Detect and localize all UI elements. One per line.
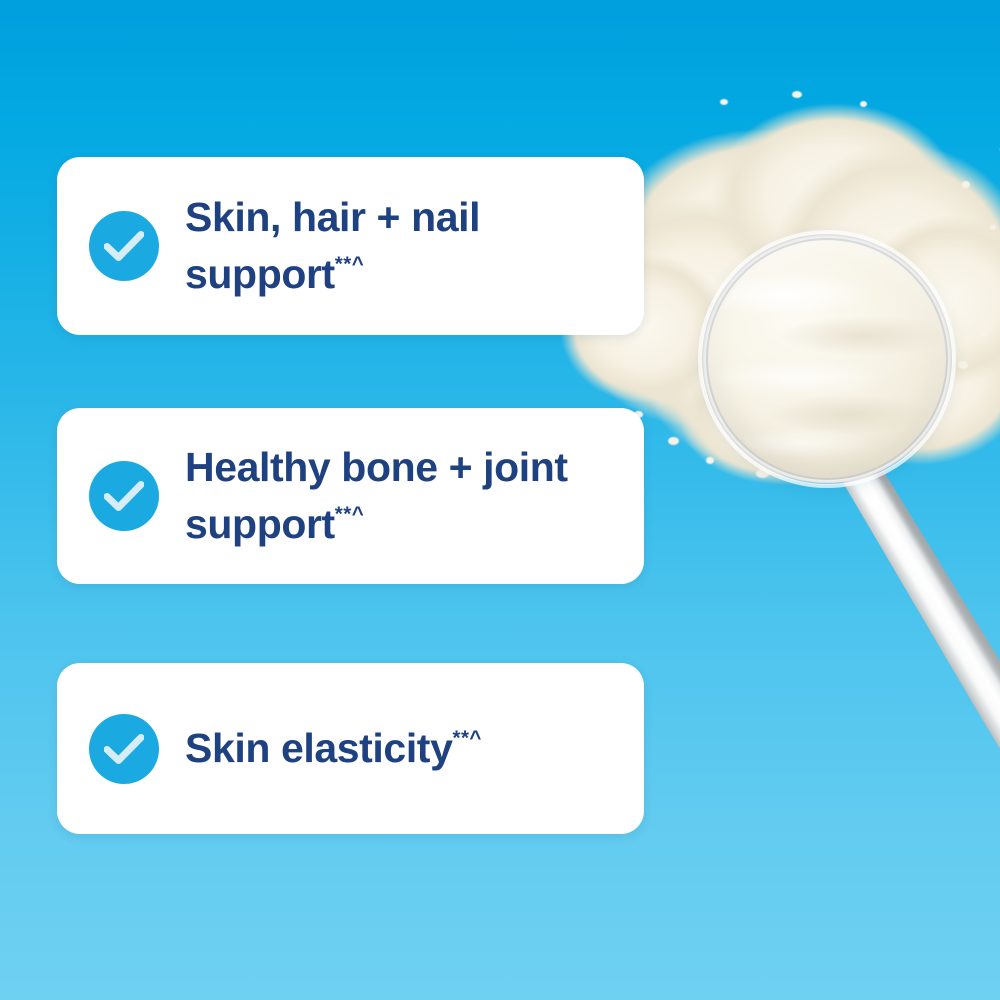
- handle-highlight: [808, 402, 1000, 976]
- benefit-text: Skin, hair + nail support: [185, 194, 480, 297]
- product-benefits-graphic: Tbsp: [0, 0, 1000, 1000]
- scoop-rim: [698, 230, 956, 488]
- benefit-label: Skin elasticity**^: [185, 720, 482, 777]
- benefit-superscript: **^: [452, 727, 481, 750]
- check-icon: [89, 211, 159, 281]
- benefit-card-skin-elasticity: Skin elasticity**^: [57, 663, 644, 834]
- benefit-superscript: **^: [335, 502, 364, 525]
- benefit-text: Healthy bone + joint support: [185, 444, 568, 547]
- benefit-card-skin-hair-nail: Skin, hair + nail support**^: [57, 157, 644, 335]
- check-icon: [89, 461, 159, 531]
- benefit-label: Skin, hair + nail support**^: [185, 189, 644, 302]
- measuring-scoop-bowl: [703, 235, 951, 483]
- check-icon: [89, 714, 159, 784]
- benefit-card-bone-joint: Healthy bone + joint support**^: [57, 408, 644, 584]
- benefit-label: Healthy bone + joint support**^: [185, 439, 644, 552]
- benefit-text: Skin elasticity: [185, 725, 452, 771]
- benefit-superscript: **^: [335, 252, 364, 275]
